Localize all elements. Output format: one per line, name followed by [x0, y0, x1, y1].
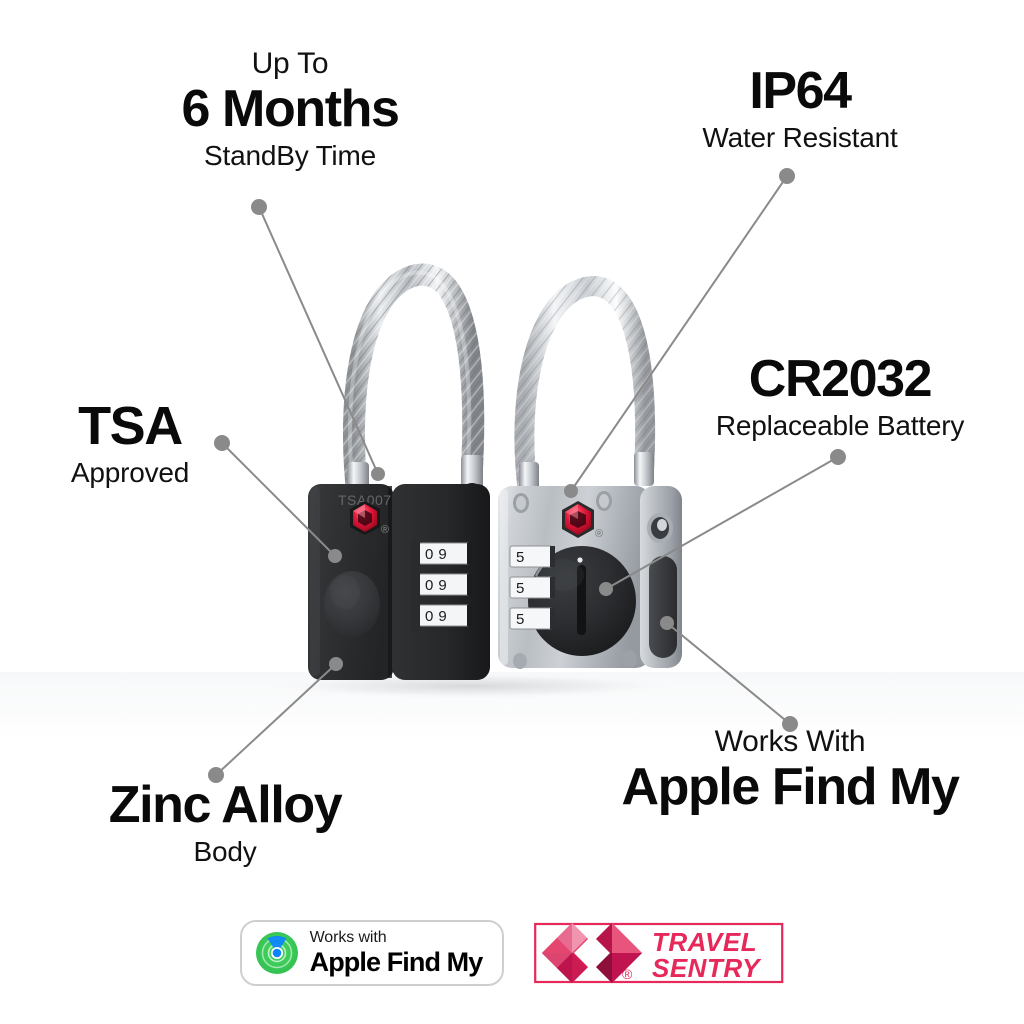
callout-material-sub: Body [70, 837, 380, 867]
leader-line-battery [606, 457, 838, 589]
findmy-radar-icon [255, 931, 299, 975]
callout-ip64: IP64 Water Resistant [660, 64, 940, 153]
leader-dot-standby-anchor [371, 467, 385, 481]
findmy-badge-text: Works with Apple Find My [310, 930, 483, 976]
leader-dot-battery-label [831, 450, 845, 464]
leader-line-standby [259, 207, 378, 474]
travel-sentry-registered: ® [622, 966, 633, 982]
callout-tsa: TSA Approved [20, 398, 240, 488]
callout-standby-eyebrow: Up To [130, 48, 450, 80]
callout-material: Zinc Alloy Body [70, 778, 380, 867]
callout-ip64-sub: Water Resistant [660, 123, 940, 153]
travel-sentry-diamond-icon: ® [542, 923, 642, 983]
findmy-badge-big-label: Apple Find My [310, 949, 483, 976]
certification-badges: Works with Apple Find My [0, 905, 1024, 1000]
callout-tsa-sub: Approved [20, 458, 240, 488]
callout-findmy: Works With Apple Find My [590, 726, 990, 815]
callout-battery: CR2032 Replaceable Battery [668, 352, 1012, 441]
leader-dot-findmy-anchor [660, 616, 674, 630]
travel-sentry-line2: SENTRY [652, 953, 762, 983]
callout-material-headline: Zinc Alloy [70, 778, 380, 833]
callout-standby-headline: 6 Months [130, 82, 450, 137]
leader-line-ip64 [571, 176, 787, 491]
callout-findmy-headline: Apple Find My [590, 760, 990, 815]
leader-dot-tsa-anchor [328, 549, 342, 563]
works-with-apple-find-my-badge[interactable]: Works with Apple Find My [240, 920, 505, 986]
callout-standby-sub: StandBy Time [130, 141, 450, 171]
leader-dot-ip64-anchor [564, 484, 578, 498]
callout-standby: Up To 6 Months StandBy Time [130, 48, 450, 171]
leader-dot-standby-label [252, 200, 266, 214]
callout-battery-sub: Replaceable Battery [668, 411, 1012, 441]
leader-dot-ip64-label [780, 169, 794, 183]
travel-sentry-badge[interactable]: ® TRAVEL SENTRY [534, 915, 784, 991]
leader-line-material [216, 664, 336, 775]
travel-sentry-logo: ® TRAVEL SENTRY [534, 915, 784, 991]
findmy-badge-small-label: Works with [310, 930, 483, 946]
callout-tsa-headline: TSA [20, 398, 240, 455]
callout-findmy-eyebrow: Works With [590, 726, 990, 758]
leader-line-findmy [667, 623, 790, 724]
infographic-canvas: TSA007 ® 09 09 09 [0, 0, 1024, 1024]
callout-ip64-headline: IP64 [660, 64, 940, 119]
leader-dot-battery-anchor [599, 582, 613, 596]
callout-battery-headline: CR2032 [668, 352, 1012, 407]
leader-dot-material-anchor [329, 657, 343, 671]
